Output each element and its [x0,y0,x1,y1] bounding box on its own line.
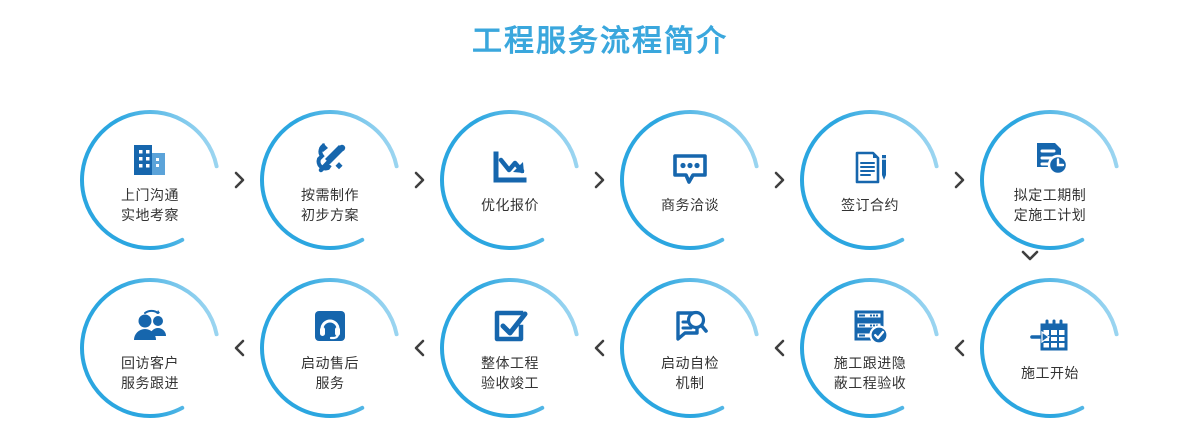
flow-node-step-9[interactable]: 启动自检 机制 [615,273,765,423]
page-title: 工程服务流程简介 [0,22,1200,62]
declining-chart-icon [487,145,533,189]
office-building-icon [127,135,173,179]
flow-node-step-2[interactable]: 按需制作 初步方案 [255,105,405,255]
node-label-line1: 上门沟通 [121,185,179,205]
node-label-line1: 优化报价 [481,195,539,215]
flow-node-step-12[interactable]: 回访客户 服务跟进 [75,273,225,423]
node-label-line2: 定施工计划 [1014,205,1087,225]
node-label-line2: 初步方案 [301,205,359,225]
contract-pen-icon [847,145,893,189]
flow-row-1: 上门沟通 实地考察 [0,100,1200,260]
node-label-line1: 施工开始 [1021,363,1079,383]
node-label-line2: 服务跟进 [121,373,179,393]
connector-chevron-left [585,273,615,423]
connector-chevron-left [945,273,975,423]
document-clock-icon [1027,135,1073,179]
node-label-line2: 实地考察 [121,205,179,225]
connector-chevron-left [225,273,255,423]
flow-node-step-8[interactable]: 施工跟进隐 蔽工程验收 [795,273,945,423]
flow-row-2: 回访客户 服务跟进 [0,268,1200,428]
connector-chevron-right [225,105,255,255]
connector-chevron-down [1016,243,1044,269]
connector-chevron-left [405,273,435,423]
connector-chevron-left [765,273,795,423]
flow-node-step-10[interactable]: 整体工程 验收竣工 [435,273,585,423]
calendar-start-icon [1027,313,1073,357]
node-label-line1: 整体工程 [481,353,539,373]
flow-node-step-7[interactable]: 施工开始 [975,273,1125,423]
node-label-line2: 蔽工程验收 [834,373,907,393]
connector-chevron-right [765,105,795,255]
node-label-line2: 机制 [661,373,719,393]
node-label-line2: 服务 [301,373,359,393]
checkbox-approved-icon [487,303,533,347]
node-label-line2: 验收竣工 [481,373,539,393]
node-label-line1: 启动售后 [301,353,359,373]
node-label-line1: 回访客户 [121,353,179,373]
headset-support-icon [307,303,353,347]
flow-node-step-5[interactable]: 签订合约 [795,105,945,255]
node-label-line1: 签订合约 [841,195,899,215]
wrench-screwdriver-icon [307,135,353,179]
process-flow-infographic: 工程服务流程简介 [0,0,1200,440]
flow-node-step-3[interactable]: 优化报价 [435,105,585,255]
connector-chevron-right [945,105,975,255]
node-label-line1: 商务洽谈 [661,195,719,215]
flow-node-step-11[interactable]: 启动售后 服务 [255,273,405,423]
flow-node-step-4[interactable]: 商务洽谈 [615,105,765,255]
connector-chevron-right [405,105,435,255]
document-magnifier-icon [667,303,713,347]
flow-node-step-1[interactable]: 上门沟通 实地考察 [75,105,225,255]
node-label-line1: 按需制作 [301,185,359,205]
connector-chevron-right [585,105,615,255]
node-label-line1: 拟定工期制 [1014,185,1087,205]
flow-node-step-6[interactable]: 拟定工期制 定施工计划 [975,105,1125,255]
node-label-line1: 启动自检 [661,353,719,373]
customer-followup-icon [127,303,173,347]
server-check-icon [847,303,893,347]
speech-bubble-icon [667,145,713,189]
node-label-line1: 施工跟进隐 [834,353,907,373]
